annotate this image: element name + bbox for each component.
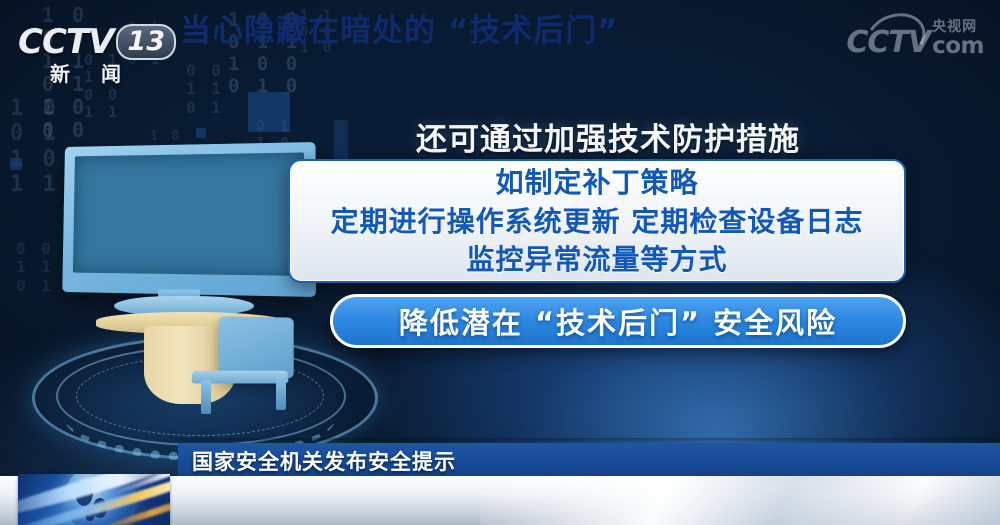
- watermark-domain: com: [932, 35, 984, 58]
- cctv-logo-text: CCTV: [18, 22, 113, 62]
- info-panel-line-3: 监控异常流量等方式: [466, 241, 727, 280]
- chair-leg-left: [201, 380, 211, 414]
- chair-leg-right: [276, 376, 286, 410]
- info-panel-line-1: 如制定补丁策略: [495, 164, 698, 203]
- cctv13-logo: CCTV 13: [18, 22, 176, 62]
- news-globe-graphic: [18, 474, 170, 525]
- binary-digit-column: 0 0 1 1 0 1: [186, 62, 224, 117]
- broadcast-screen: 1 0 0 0 1 1 0 1 1 0 0 00 1 1 0 0 0 1 11 …: [0, 0, 1000, 525]
- monitor-screen: [73, 152, 304, 275]
- channel-number: 13: [127, 26, 165, 57]
- lower-third-sheen: [480, 476, 1000, 525]
- highlight-pill-bar: 降低潜在 “技术后门” 安全风险: [330, 294, 906, 348]
- headline-above-panel-container: 还可通过加强技术防护措施: [0, 114, 1000, 159]
- info-panel-line-2: 定期进行操作系统更新 定期检查设备日志: [331, 203, 864, 242]
- background-block: [10, 158, 22, 170]
- monitor-body: [62, 142, 316, 297]
- lower-third-title-text: 当心隐藏在暗处的 “技术后门”: [180, 5, 619, 50]
- info-panel: 如制定补丁策略 定期进行操作系统更新 定期检查设备日志 监控异常流量等方式: [288, 159, 906, 283]
- channel-subtitle: 新 闻: [50, 58, 133, 87]
- channel-number-pill: 13: [116, 24, 176, 60]
- lower-third-kicker-text: 国家安全机关发布安全提示: [192, 446, 456, 476]
- headline-above-panel: 还可通过加强技术防护措施: [288, 114, 928, 159]
- highlight-pill-text: 降低潜在 “技术后门” 安全风险: [399, 300, 837, 342]
